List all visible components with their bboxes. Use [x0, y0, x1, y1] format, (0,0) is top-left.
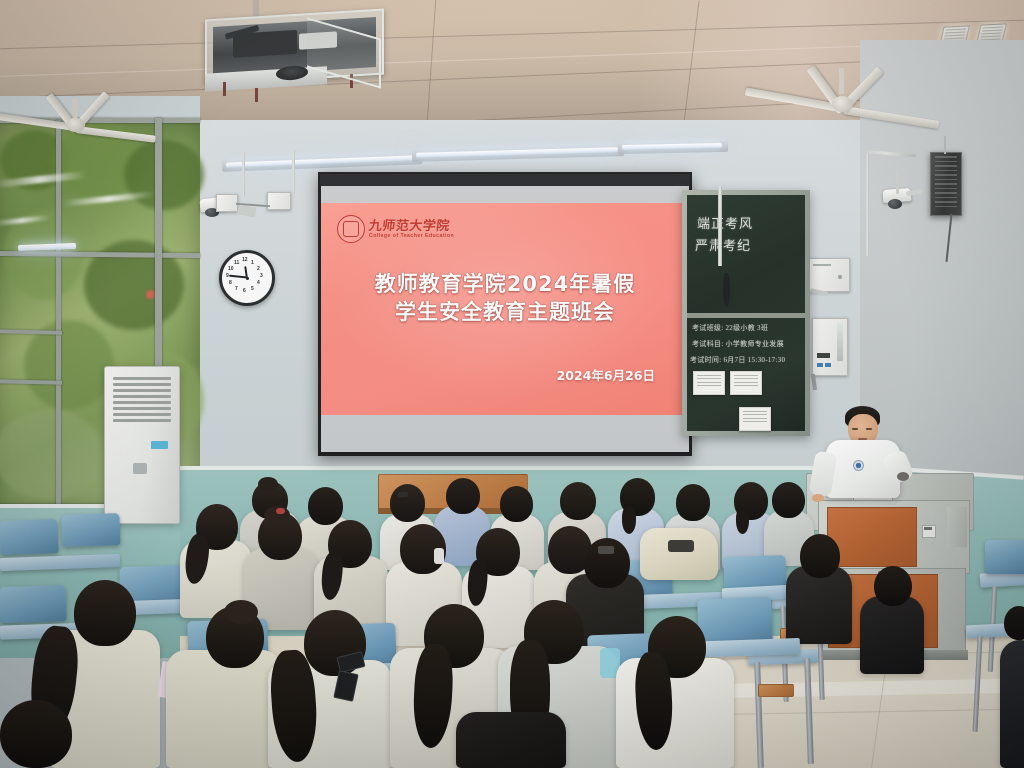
wall-speaker [930, 152, 962, 216]
screen-surface: 九师范大学院 College of Teacher Education 教师教育… [321, 186, 689, 452]
fan-rod [839, 68, 844, 94]
electrical-panel-lower [812, 318, 848, 376]
student-r1-j-head [772, 482, 805, 518]
teacher-shirt-emblem-icon [853, 460, 864, 471]
student-r1-f-head [560, 482, 596, 520]
blackboard-notice-3 [739, 407, 771, 431]
chalk-text-exam-class: 考试班级: 22级小教 3班 [692, 323, 768, 333]
desk-shelf-wood [758, 684, 794, 697]
clock-numeral: 4 [257, 280, 260, 286]
ac-logo [133, 463, 147, 474]
student-r1-e-head [500, 486, 533, 522]
seat-row3-a [697, 597, 773, 646]
fan-hub [832, 96, 853, 112]
panel-button [817, 363, 823, 367]
student-r1-d-head [446, 478, 480, 514]
screen-roller-bar [718, 186, 722, 266]
clock-numeral: 7 [235, 286, 238, 292]
air-conditioner [104, 366, 180, 524]
student-r3-b-bun [224, 600, 258, 624]
student-r1-h-head [676, 484, 710, 521]
student-r2-b-hair-tie [276, 508, 285, 514]
cage-bolt [223, 82, 226, 96]
teacher-eye [866, 428, 872, 430]
wall-clock: 12 1 2 3 4 5 6 7 8 9 10 11 [219, 250, 275, 306]
student-r3-a-head [74, 580, 136, 646]
clock-center [246, 277, 249, 280]
clock-numeral: 5 [251, 286, 254, 292]
ac-grill [113, 377, 171, 423]
podium-body [818, 500, 970, 574]
chalk-text-exam-time: 考试时间: 6月7日 15:30-17:30 [690, 355, 785, 365]
student-foreground-dark-1 [456, 712, 566, 768]
clock-numeral: 2 [257, 266, 260, 272]
student-r1-c-hairclip [398, 492, 408, 497]
student-r1-a-bun [258, 477, 278, 491]
student-r1-c-head [390, 484, 425, 522]
fan-rod [72, 98, 77, 120]
chalk-text-heading-2: 严肃考纪 [695, 235, 751, 254]
blackboard: 端正考风 严肃考纪 考试班级: 22级小教 3班 考试科目: 小学教师专业发展 … [682, 190, 810, 436]
teacher-right-hand [897, 472, 909, 481]
panel-gauge [837, 323, 843, 361]
blackboard-surface: 端正考风 严肃考纪 考试班级: 22级小教 3班 考试科目: 小学教师专业发展 … [687, 195, 805, 431]
panel-button [825, 363, 831, 367]
student-r2-d-mask [434, 548, 444, 564]
university-logo-english: College of Teacher Education [369, 233, 454, 239]
empty-seat-1 [0, 519, 59, 555]
fan-hub [66, 118, 85, 132]
student-r3-b-body [166, 650, 282, 768]
clock-numeral: 3 [260, 273, 263, 279]
blackboard-pull-cord [723, 273, 730, 307]
student-head [1004, 606, 1024, 640]
empty-seat-2 [61, 513, 120, 547]
student-right-edge [1000, 640, 1024, 768]
slide-content: 九师范大学院 College of Teacher Education 教师教育… [321, 203, 689, 415]
camera-mount [896, 172, 899, 194]
cage-bolt [255, 88, 258, 102]
panel-indicator [838, 275, 842, 279]
slide-title-line2: 学生安全教育主题班会 [321, 299, 689, 326]
slide-date: 2024年6月26日 [557, 365, 655, 384]
student-r2-h-head [800, 534, 840, 578]
podium-control-slot [924, 527, 932, 530]
clock-minute-hand [229, 275, 247, 278]
speaker-wire [944, 136, 946, 154]
blackboard-divider [687, 313, 805, 318]
student-r1-b-head [308, 487, 343, 525]
blackboard-notice-1 [693, 371, 725, 395]
slide-title-line1: 教师教育学院2024年暑假 [321, 271, 689, 298]
ac-badge [151, 441, 168, 449]
clock-numeral: 10 [228, 266, 234, 272]
security-camera-lens [888, 199, 902, 209]
clock-numeral: 1 [251, 260, 254, 266]
teacher-left-hand [812, 494, 824, 502]
student-r1-i-ponytail [736, 508, 749, 534]
student-foreground-head-1 [0, 700, 72, 768]
conduit [292, 150, 295, 194]
junction-box [216, 194, 238, 212]
panel-display [817, 353, 830, 358]
student-r1-g-ponytail [622, 506, 636, 534]
chalk-text-heading-1: 端正考风 [697, 213, 753, 232]
university-logo-chinese: 九师范大学院 [368, 215, 451, 234]
classroom-photo: 12 1 2 3 4 5 6 7 8 9 10 11 [0, 0, 1024, 768]
podium-side-wing [947, 507, 967, 547]
chalk-text-exam-subject: 考试科目: 小学教师专业发展 [692, 339, 784, 349]
seat-right-1 [985, 540, 1024, 574]
junction-box [267, 192, 291, 210]
clock-numeral: 11 [234, 260, 239, 266]
student-right-aisle-body [860, 596, 924, 674]
blackboard-notice-2 [730, 371, 762, 395]
clock-numeral: 6 [243, 288, 246, 294]
screen-top-bar [320, 174, 690, 186]
clock-numeral: 12 [242, 257, 248, 263]
teacher-eye [852, 428, 858, 430]
draped-jacket [640, 528, 718, 580]
conduit [866, 150, 869, 256]
student-right-aisle-head [874, 566, 912, 606]
podium-wood-panel-upper [827, 507, 917, 567]
university-seal-icon [337, 215, 365, 243]
panel-label [813, 264, 831, 266]
empty-seat-3 [0, 585, 67, 623]
clock-numeral: 8 [229, 280, 232, 286]
projection-screen: 九师范大学院 College of Teacher Education 教师教育… [318, 172, 692, 456]
student-r2-g-hairclip [598, 546, 614, 554]
jacket-fold-shadow [668, 540, 694, 552]
electrical-panel-upper [808, 258, 850, 292]
conduit [242, 152, 245, 196]
